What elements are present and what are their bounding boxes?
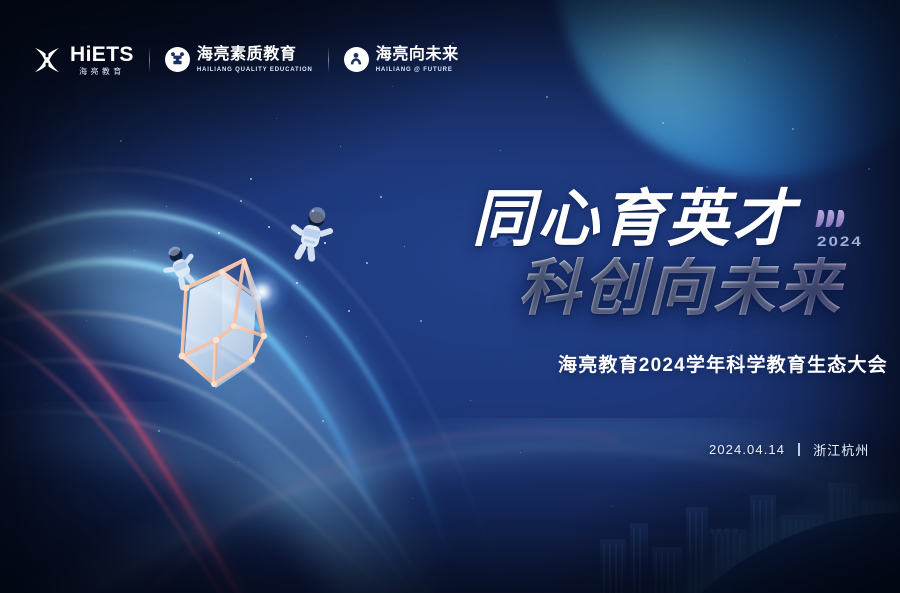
hailiang-quality-en-label: HAILIANG QUALITY EDUCATION [197, 67, 313, 73]
hailiang-future-icon [344, 47, 369, 72]
poster-canvas: 海亮教育 HiETS 海亮教育 [0, 0, 900, 593]
badge-year-label: 2024 [817, 234, 891, 250]
logo-hailiang-quality[interactable]: 海亮素质教育 HAILIANG QUALITY EDUCATION [165, 47, 313, 73]
logo-divider-2 [328, 47, 329, 73]
hiets-butterfly-icon [32, 46, 62, 74]
headline-line-2: 科创向未来 [518, 257, 882, 320]
light-spark [232, 262, 292, 322]
subtitle: 海亮教育2024学年科学教育生态大会 [558, 350, 888, 377]
event-location: 浙江杭州 [813, 440, 869, 459]
logo-bar: HiETS 海亮教育 海亮素质教育 HAILIANG QUALITY EDUCA… [32, 44, 459, 76]
event-date: 2024.04.14 [709, 442, 785, 457]
event-meta-divider [798, 443, 800, 456]
headline-block: 同心育英才 科创向未来 2024 [462, 188, 882, 320]
hailiang-future-en-label: HAILIANG @ FUTURE [376, 67, 459, 73]
hiets-cn-label: 海亮教育 [70, 68, 134, 76]
logo-hailiang-future[interactable]: 海亮向未来 HAILIANG @ FUTURE [344, 47, 459, 73]
logo-hiets[interactable]: HiETS 海亮教育 [32, 44, 134, 76]
hailiang-quality-icon [165, 47, 190, 72]
astronaut-right [284, 206, 336, 266]
hiets-en-label: HiETS [70, 44, 134, 65]
year-badge: 2024 [817, 210, 891, 252]
event-meta: 2024.04.14 浙江杭州 [709, 440, 869, 459]
logo-divider-1 [149, 47, 150, 73]
badge-bars [817, 210, 891, 227]
hailiang-future-cn-label: 海亮向未来 [376, 47, 459, 64]
hailiang-quality-cn-label: 海亮素质教育 [197, 47, 313, 64]
